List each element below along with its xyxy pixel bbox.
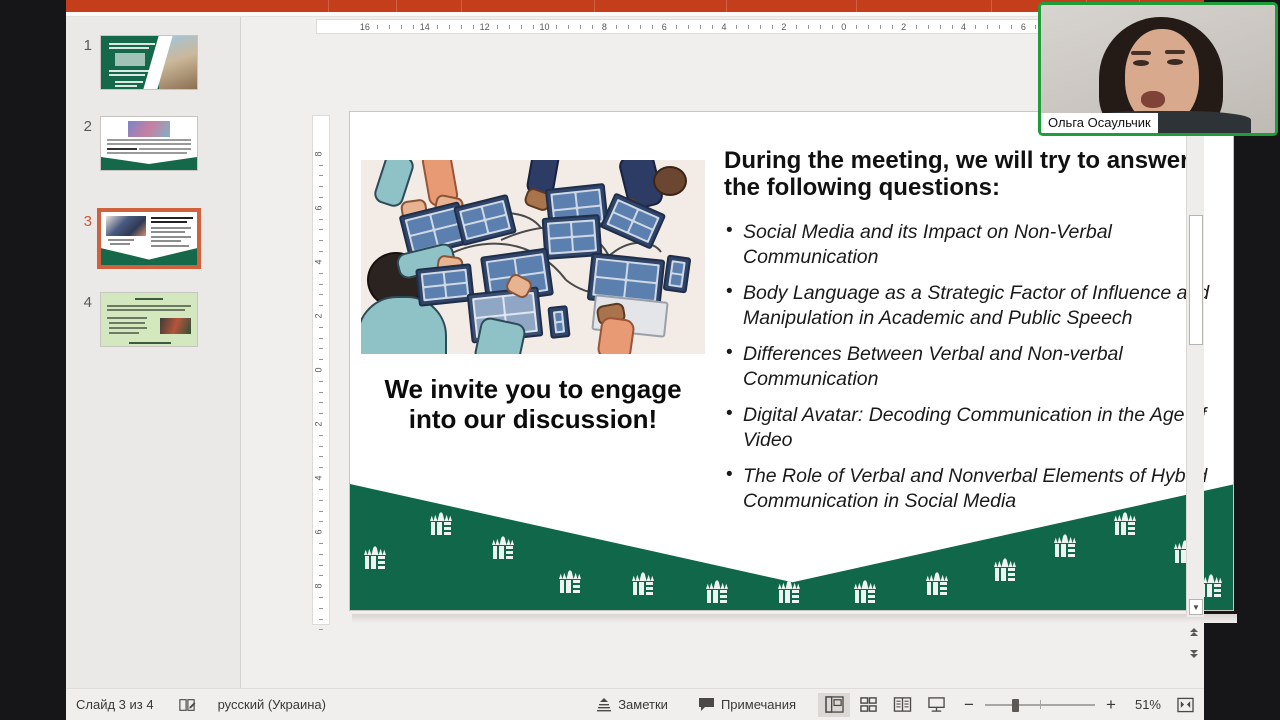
thumbnail-number: 4 [66, 292, 100, 311]
ruler-label: 8 [314, 584, 324, 589]
ruler-tick [628, 25, 629, 29]
zoom-slider[interactable] [985, 699, 1095, 711]
ruler-tick [868, 25, 869, 29]
previous-slide-button[interactable] [1185, 621, 1203, 643]
ruler-tick [473, 25, 474, 29]
normal-view-button[interactable] [818, 693, 850, 717]
university-crest-icon [774, 580, 804, 606]
university-crest-icon [360, 546, 390, 572]
ruler-tick [319, 327, 323, 328]
ruler-tick [319, 294, 323, 295]
ruler-tick [700, 25, 701, 29]
ruler-tick [1035, 25, 1036, 29]
ruler-tick [389, 25, 390, 29]
ruler-tick [592, 25, 593, 29]
slide-bullet-list[interactable]: Social Media and its Impact on Non-Verba… [724, 220, 1234, 525]
ruler-tick [533, 25, 534, 29]
university-crest-icon [922, 572, 952, 598]
ruler-tick [319, 284, 323, 285]
webcam-mouth [1141, 91, 1165, 108]
university-crest-icon [990, 558, 1020, 584]
ruler-tick [497, 25, 498, 29]
ruler-tick [568, 25, 569, 29]
language-label[interactable]: русский (Украина) [218, 697, 326, 712]
ruler-label: 4 [314, 476, 324, 481]
ruler-tick [916, 25, 917, 29]
ruler-tick [319, 511, 323, 512]
ruler-tick [748, 25, 749, 29]
ruler-tick [892, 25, 893, 29]
slide-bullet: Digital Avatar: Decoding Communication i… [724, 403, 1234, 453]
ruler-tick [319, 338, 323, 339]
university-crest-icon [1050, 534, 1080, 560]
ruler-tick [377, 25, 378, 29]
ruler-tick [676, 25, 677, 29]
ruler-tick [832, 25, 833, 29]
ruler-tick [437, 25, 438, 29]
ruler-tick [556, 25, 557, 29]
ruler-tick [319, 554, 323, 555]
ruler-tick [760, 25, 761, 29]
invite-text: We invite you to engage into our discuss… [372, 374, 694, 435]
thumbnail-preview[interactable] [100, 292, 198, 347]
ruler-tick [319, 359, 323, 360]
ruler-tick [319, 597, 323, 598]
zoom-in-button[interactable]: + [1104, 695, 1118, 715]
ruler-label: 0 [841, 22, 846, 32]
thumbnail-preview[interactable] [100, 35, 198, 90]
ruler-label: 14 [420, 22, 430, 32]
scrollbar-thumb[interactable] [1189, 215, 1203, 345]
ruler-tick [820, 25, 821, 29]
spellcheck-icon[interactable] [178, 697, 196, 713]
slide-sorter-view-button[interactable] [852, 693, 884, 717]
slide-bullet: Differences Between Verbal and Non-verba… [724, 342, 1234, 392]
thumbnail-slide-3[interactable]: 3 [66, 211, 241, 266]
slide-canvas[interactable]: We invite you to engage into our discuss… [349, 111, 1234, 611]
participant-name-label: Ольга Осаульчик [1041, 113, 1158, 133]
thumbnail-preview-active[interactable] [100, 211, 198, 266]
webcam-video-tile[interactable]: Ольга Осаульчик [1038, 2, 1278, 136]
ruler-tick [712, 25, 713, 29]
ruler-tick [975, 25, 976, 29]
ruler-tick [319, 175, 323, 176]
ruler-tick [319, 381, 323, 382]
ruler-label: 4 [722, 22, 727, 32]
ruler-label: 0 [314, 367, 324, 372]
ruler-tick [580, 25, 581, 29]
ruler-tick [319, 305, 323, 306]
zoom-control[interactable]: − + 51% [962, 695, 1200, 715]
ruler-label: 16 [360, 22, 370, 32]
ruler-label: 6 [1021, 22, 1026, 32]
ruler-label: 2 [314, 313, 324, 318]
ruler-label: 8 [602, 22, 607, 32]
ruler-tick [319, 565, 323, 566]
thumbnail-number: 1 [66, 35, 100, 54]
ruler-tick [319, 467, 323, 468]
ruler-label: 4 [314, 259, 324, 264]
ruler-tick [772, 25, 773, 29]
comment-icon [698, 697, 715, 712]
ruler-tick [319, 402, 323, 403]
thumbnail-preview[interactable] [100, 116, 198, 171]
next-slide-button[interactable] [1185, 643, 1203, 665]
powerpoint-window: 1 2 [66, 0, 1204, 720]
thumbnail-slide-1[interactable]: 1 [66, 35, 241, 90]
ruler-tick [319, 446, 323, 447]
notes-button[interactable]: Заметки [588, 693, 676, 716]
ruler-tick [652, 25, 653, 29]
ruler-label: 6 [314, 530, 324, 535]
thumbnail-number: 3 [66, 211, 100, 230]
ruler-label: 2 [781, 22, 786, 32]
ruler-tick [319, 575, 323, 576]
university-crest-icon [426, 512, 456, 538]
ruler-tick [856, 25, 857, 29]
university-crest-icon [555, 570, 585, 596]
slide-title[interactable]: During the meeting, we will try to answe… [724, 148, 1224, 202]
comments-label: Примечания [721, 697, 796, 712]
slide-thumbnail-pane[interactable]: 1 2 [66, 17, 241, 688]
ruler-tick [319, 608, 323, 609]
zoom-out-button[interactable]: − [962, 695, 976, 715]
ruler-tick [319, 186, 323, 187]
university-crest-icon [850, 580, 880, 606]
screen-root: 1 2 [0, 0, 1280, 720]
ruler-tick [449, 25, 450, 29]
thumbnail-slide-4[interactable]: 4 [66, 292, 241, 347]
ruler-tick [319, 500, 323, 501]
ruler-tick [319, 629, 323, 630]
ruler-tick [1011, 25, 1012, 29]
ruler-tick [401, 25, 402, 29]
ruler-tick [319, 619, 323, 620]
zoom-slider-handle[interactable] [1012, 699, 1019, 712]
ruler-tick [952, 25, 953, 29]
ruler-label: 6 [314, 205, 324, 210]
fit-to-window-icon[interactable] [1170, 697, 1200, 713]
slide-image[interactable] [361, 160, 705, 354]
ruler-tick [999, 25, 1000, 29]
university-crest-icon [488, 536, 518, 562]
ruler-tick [509, 25, 510, 29]
ruler-tick [319, 521, 323, 522]
ruler-tick [319, 456, 323, 457]
ruler-tick [987, 25, 988, 29]
ruler-tick [319, 392, 323, 393]
ruler-tick [319, 251, 323, 252]
ruler-label: 8 [314, 151, 324, 156]
ruler-label: 2 [314, 422, 324, 427]
ruler-tick [640, 25, 641, 29]
comments-button[interactable]: Примечания [690, 693, 804, 716]
slide-bullet: Social Media and its Impact on Non-Verba… [724, 220, 1234, 270]
ruler-tick [928, 25, 929, 29]
ruler-label: 12 [480, 22, 490, 32]
ruler-tick [319, 219, 323, 220]
ruler-tick [319, 489, 323, 490]
notes-icon [596, 697, 612, 712]
ruler-label: 6 [662, 22, 667, 32]
ruler-tick [319, 229, 323, 230]
ruler-tick [319, 413, 323, 414]
zoom-level-label[interactable]: 51% [1127, 697, 1161, 712]
scroll-down-arrow-icon[interactable]: ▼ [1189, 599, 1203, 615]
slide-nav-buttons[interactable] [1185, 621, 1203, 665]
status-bar: Слайд 3 из 4 русский (Украина) [66, 688, 1204, 720]
ruler-tick [736, 25, 737, 29]
ruler-label: 10 [539, 22, 549, 32]
ruler-label: 4 [961, 22, 966, 32]
university-crest-icon [628, 572, 658, 598]
slide-shadow [352, 614, 1237, 623]
vertical-ruler[interactable]: 864202468 [312, 115, 330, 625]
ruler-tick [521, 25, 522, 29]
ruler-tick [796, 25, 797, 29]
ruler-tick [808, 25, 809, 29]
ruler-tick [319, 543, 323, 544]
view-switch-buttons[interactable] [818, 693, 952, 717]
university-crest-icon [1110, 512, 1140, 538]
ruler-tick [319, 165, 323, 166]
ruler-tick [461, 25, 462, 29]
ruler-tick [880, 25, 881, 29]
ruler-label: 2 [901, 22, 906, 32]
thumbnail-number: 2 [66, 116, 100, 135]
ruler-tick [688, 25, 689, 29]
ruler-tick [319, 197, 323, 198]
ruler-tick [319, 348, 323, 349]
ruler-tick [413, 25, 414, 29]
ruler-tick [319, 273, 323, 274]
ribbon-strip[interactable] [66, 0, 1204, 12]
slide-bullet: Body Language as a Strategic Factor of I… [724, 281, 1234, 331]
ruler-tick [319, 435, 323, 436]
notes-label: Заметки [618, 697, 668, 712]
university-crest-icon [702, 580, 732, 606]
letterbox-left [0, 0, 66, 720]
slide-show-view-button[interactable] [920, 693, 952, 717]
slide-count-label[interactable]: Слайд 3 из 4 [76, 697, 154, 712]
ruler-tick [616, 25, 617, 29]
ruler-tick [940, 25, 941, 29]
reading-view-button[interactable] [886, 693, 918, 717]
thumbnail-slide-2[interactable]: 2 [66, 116, 241, 171]
ruler-tick [319, 240, 323, 241]
